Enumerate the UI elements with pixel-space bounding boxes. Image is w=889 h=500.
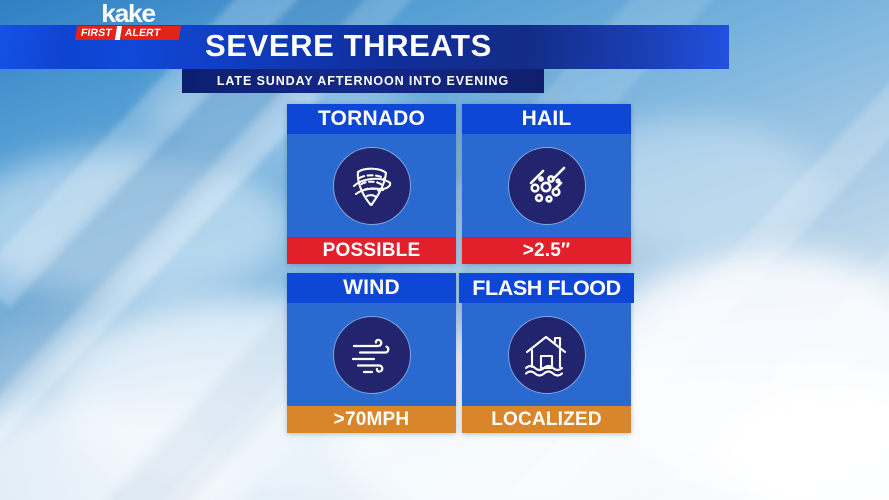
threat-card-value: >2.5″	[462, 237, 631, 264]
tornado-icon	[333, 147, 411, 225]
threat-card-icon-area	[462, 303, 631, 406]
page-title: SEVERE THREATS	[205, 28, 492, 64]
threat-card-title: FLASH FLOOD	[459, 273, 634, 303]
station-logo: kake FIRST ALERT	[76, 3, 180, 41]
threat-card-icon-area	[287, 303, 456, 406]
page-subtitle: LATE SUNDAY AFTERNOON INTO EVENING	[182, 69, 544, 93]
hail-icon	[508, 147, 586, 225]
threat-card-value: POSSIBLE	[287, 237, 456, 264]
weather-graphic-screen: kake FIRST ALERT SEVERE THREATS LATE SUN…	[0, 0, 889, 500]
flood-house-icon	[508, 316, 586, 394]
threat-card-flash-flood[interactable]: FLASH FLOOD LOCALIZED	[462, 273, 631, 433]
threat-card-icon-area	[287, 134, 456, 237]
threat-card-wind[interactable]: WIND >70MPH	[287, 273, 456, 433]
threat-card-value: >70MPH	[287, 406, 456, 433]
first-alert-badge: FIRST ALERT	[75, 26, 181, 40]
threat-card-title: WIND	[287, 273, 456, 303]
threat-card-tornado[interactable]: TORNADO POSSIBLE	[287, 104, 456, 264]
title-bar-left-cap	[0, 25, 62, 69]
threat-card-hail[interactable]: HAIL >2.5″	[462, 104, 631, 264]
threat-card-title: TORNADO	[287, 104, 456, 134]
threat-card-icon-area	[462, 134, 631, 237]
station-logo-wordmark: kake	[73, 3, 183, 25]
wind-icon	[333, 316, 411, 394]
threat-card-value: LOCALIZED	[462, 406, 631, 433]
threat-card-title: HAIL	[462, 104, 631, 134]
first-alert-badge-first: FIRST	[75, 26, 117, 40]
first-alert-badge-alert: ALERT	[120, 26, 181, 40]
subtitle-bar: LATE SUNDAY AFTERNOON INTO EVENING	[182, 69, 544, 93]
